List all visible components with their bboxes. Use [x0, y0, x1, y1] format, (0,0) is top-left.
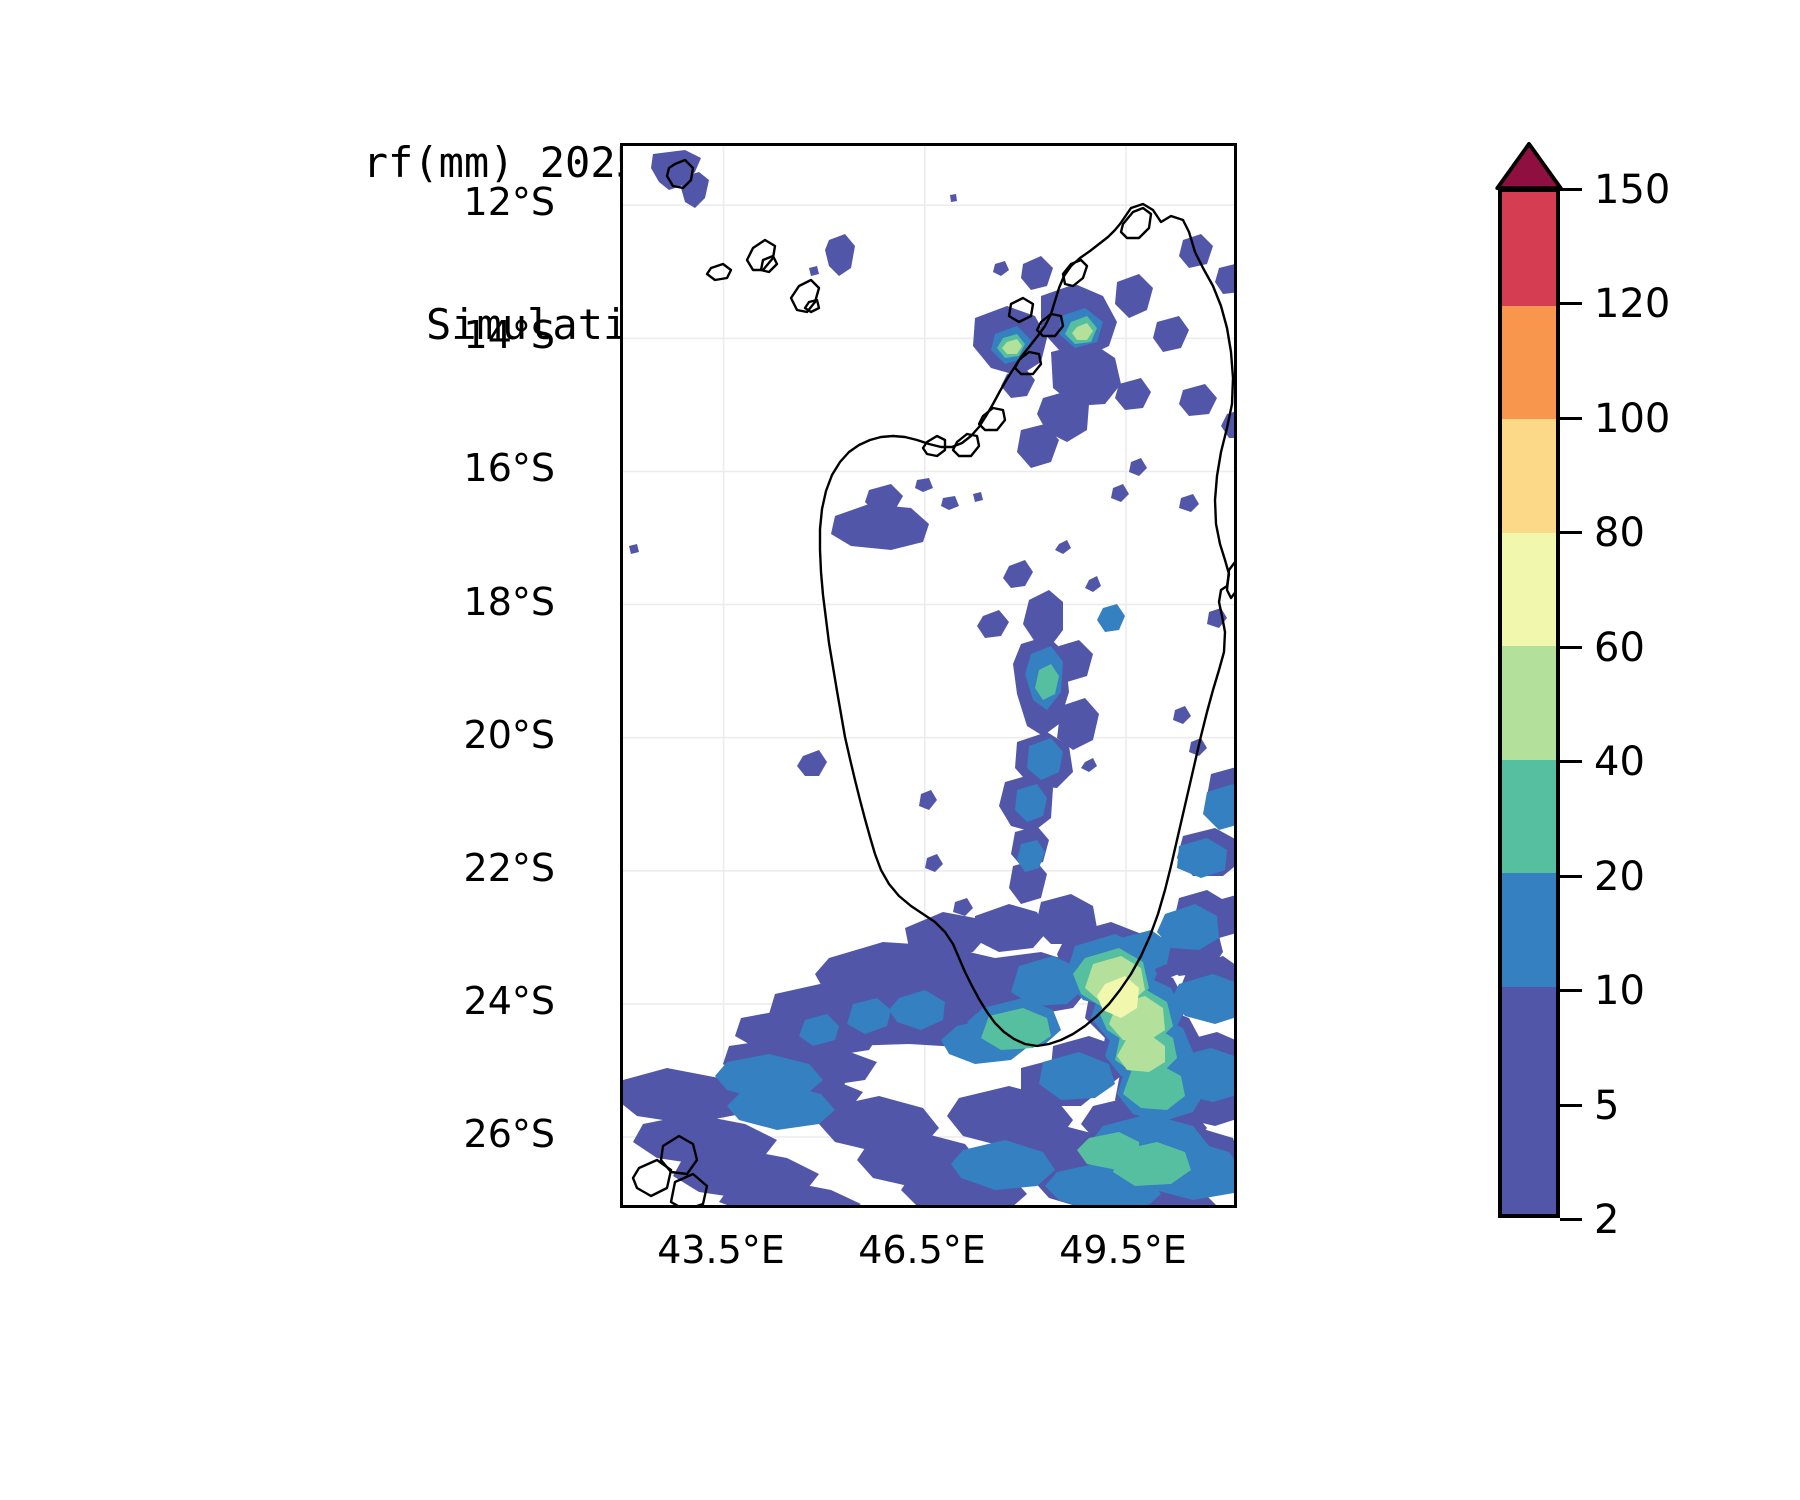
- ytick-label: 14°S: [464, 313, 555, 357]
- ytick-label: 16°S: [464, 446, 555, 490]
- colorbar-segment: [1502, 646, 1556, 760]
- colorbar-tick-label: 100: [1594, 396, 1670, 442]
- colorbar-segment: [1502, 192, 1556, 306]
- colorbar-tick: [1560, 760, 1582, 763]
- colorbar-tick-label: 5: [1594, 1083, 1619, 1129]
- colorbar-tick: [1560, 989, 1582, 992]
- colorbar-tick-label: 120: [1594, 281, 1670, 327]
- ytick-label: 18°S: [464, 580, 555, 624]
- xtick-label: 46.5°E: [858, 1228, 986, 1272]
- colorbar-tick-label: 60: [1594, 625, 1645, 671]
- colorbar-tick: [1560, 531, 1582, 534]
- colorbar-tick: [1560, 188, 1582, 191]
- colorbar-segment: [1502, 533, 1556, 647]
- colorbar-tick-label: 20: [1594, 854, 1645, 900]
- colorbar-tick: [1560, 875, 1582, 878]
- colorbar-tick: [1560, 1104, 1582, 1107]
- ytick-label: 12°S: [464, 180, 555, 224]
- colorbar-segment: [1502, 987, 1556, 1214]
- colorbar-gradient: [1498, 188, 1560, 1218]
- colorbar-tick: [1560, 646, 1582, 649]
- ytick-label: 20°S: [464, 713, 555, 757]
- colorbar-extend-arrow: [1494, 142, 1564, 192]
- colorbar-tick-label: 80: [1594, 510, 1645, 556]
- colorbar-tick: [1560, 1218, 1582, 1221]
- map-contents: [623, 146, 1234, 1205]
- colorbar-tick-label: 10: [1594, 968, 1645, 1014]
- xtick-label: 49.5°E: [1059, 1228, 1187, 1272]
- colorbar-segment: [1502, 419, 1556, 533]
- ytick-label: 24°S: [464, 979, 555, 1023]
- colorbar-segment: [1502, 873, 1556, 987]
- ytick-label: 26°S: [464, 1112, 555, 1156]
- colorbar-tick-label: 2: [1594, 1197, 1619, 1243]
- map-plot-area: [620, 143, 1237, 1208]
- figure-canvas: rf(mm) 20251001_12 to 20251001_15 Simula…: [0, 0, 1800, 1500]
- colorbar-tick-label: 150: [1594, 167, 1670, 213]
- rainfall-contour-map: [623, 146, 1237, 1208]
- colorbar-tick-label: 40: [1594, 739, 1645, 785]
- colorbar-tick: [1560, 417, 1582, 420]
- colorbar-tick: [1560, 302, 1582, 305]
- colorbar: 150 120 100 80 60 40 20 10 5 2: [1498, 143, 1798, 1226]
- colorbar-segment: [1502, 306, 1556, 420]
- ytick-label: 22°S: [464, 846, 555, 890]
- colorbar-segment: [1502, 760, 1556, 874]
- xtick-label: 43.5°E: [657, 1228, 785, 1272]
